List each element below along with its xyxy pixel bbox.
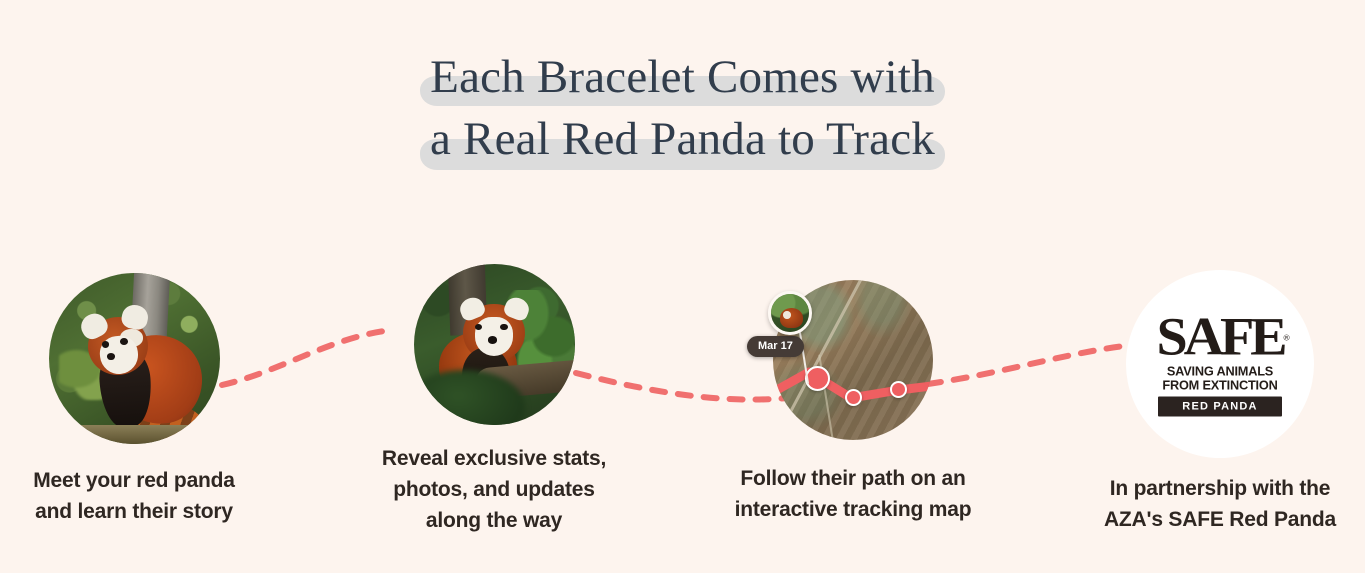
- step-caption: Meet your red panda and learn their stor…: [14, 465, 254, 527]
- map-node-marker[interactable]: [890, 381, 907, 398]
- safe-wordmark: SAFE ®: [1156, 312, 1285, 362]
- step-caption: Follow their path on an interactive trac…: [733, 463, 973, 525]
- safe-program-bar: RED PANDA: [1158, 397, 1282, 417]
- page-root: { "theme": { "background": "#fdf4ee", "h…: [0, 0, 1365, 573]
- step-caption: Reveal exclusive stats, photos, and upda…: [374, 443, 614, 536]
- red-panda-thumbnail[interactable]: [768, 291, 812, 335]
- safe-tagline: SAVING ANIMALS FROM EXTINCTION: [1157, 365, 1283, 393]
- headline-line-2: a Real Red Panda to Track: [430, 108, 935, 170]
- step-item-exclusive-stats[interactable]: Reveal exclusive stats, photos, and upda…: [374, 264, 614, 536]
- safe-logo-circle[interactable]: SAFE ® SAVING ANIMALS FROM EXTINCTION RE…: [1126, 270, 1314, 458]
- headline-line-1: Each Bracelet Comes with: [430, 46, 935, 108]
- step-item-safe-partnership[interactable]: SAFE ® SAVING ANIMALS FROM EXTINCTION RE…: [1095, 270, 1345, 535]
- headline-line-1-text: Each Bracelet Comes with: [430, 51, 935, 103]
- red-panda-on-branch-photo[interactable]: [49, 273, 220, 444]
- headline-line-2-text: a Real Red Panda to Track: [430, 113, 935, 165]
- safe-wordmark-text: SAFE: [1157, 307, 1284, 367]
- step-item-meet-your-panda[interactable]: Meet your red panda and learn their stor…: [14, 273, 254, 527]
- registered-trademark-icon: ®: [1284, 314, 1290, 364]
- safe-logo: SAFE ® SAVING ANIMALS FROM EXTINCTION RE…: [1158, 312, 1282, 417]
- step-caption: In partnership with the AZA's SAFE Red P…: [1095, 473, 1345, 535]
- red-panda-on-log-photo[interactable]: [414, 264, 575, 425]
- step-item-tracking-map[interactable]: Mar 17 Follow their path on an interacti…: [733, 280, 973, 525]
- map-node-marker[interactable]: [845, 389, 862, 406]
- page-title: Each Bracelet Comes with a Real Red Pand…: [0, 46, 1365, 170]
- map-date-tooltip[interactable]: Mar 17: [747, 336, 804, 357]
